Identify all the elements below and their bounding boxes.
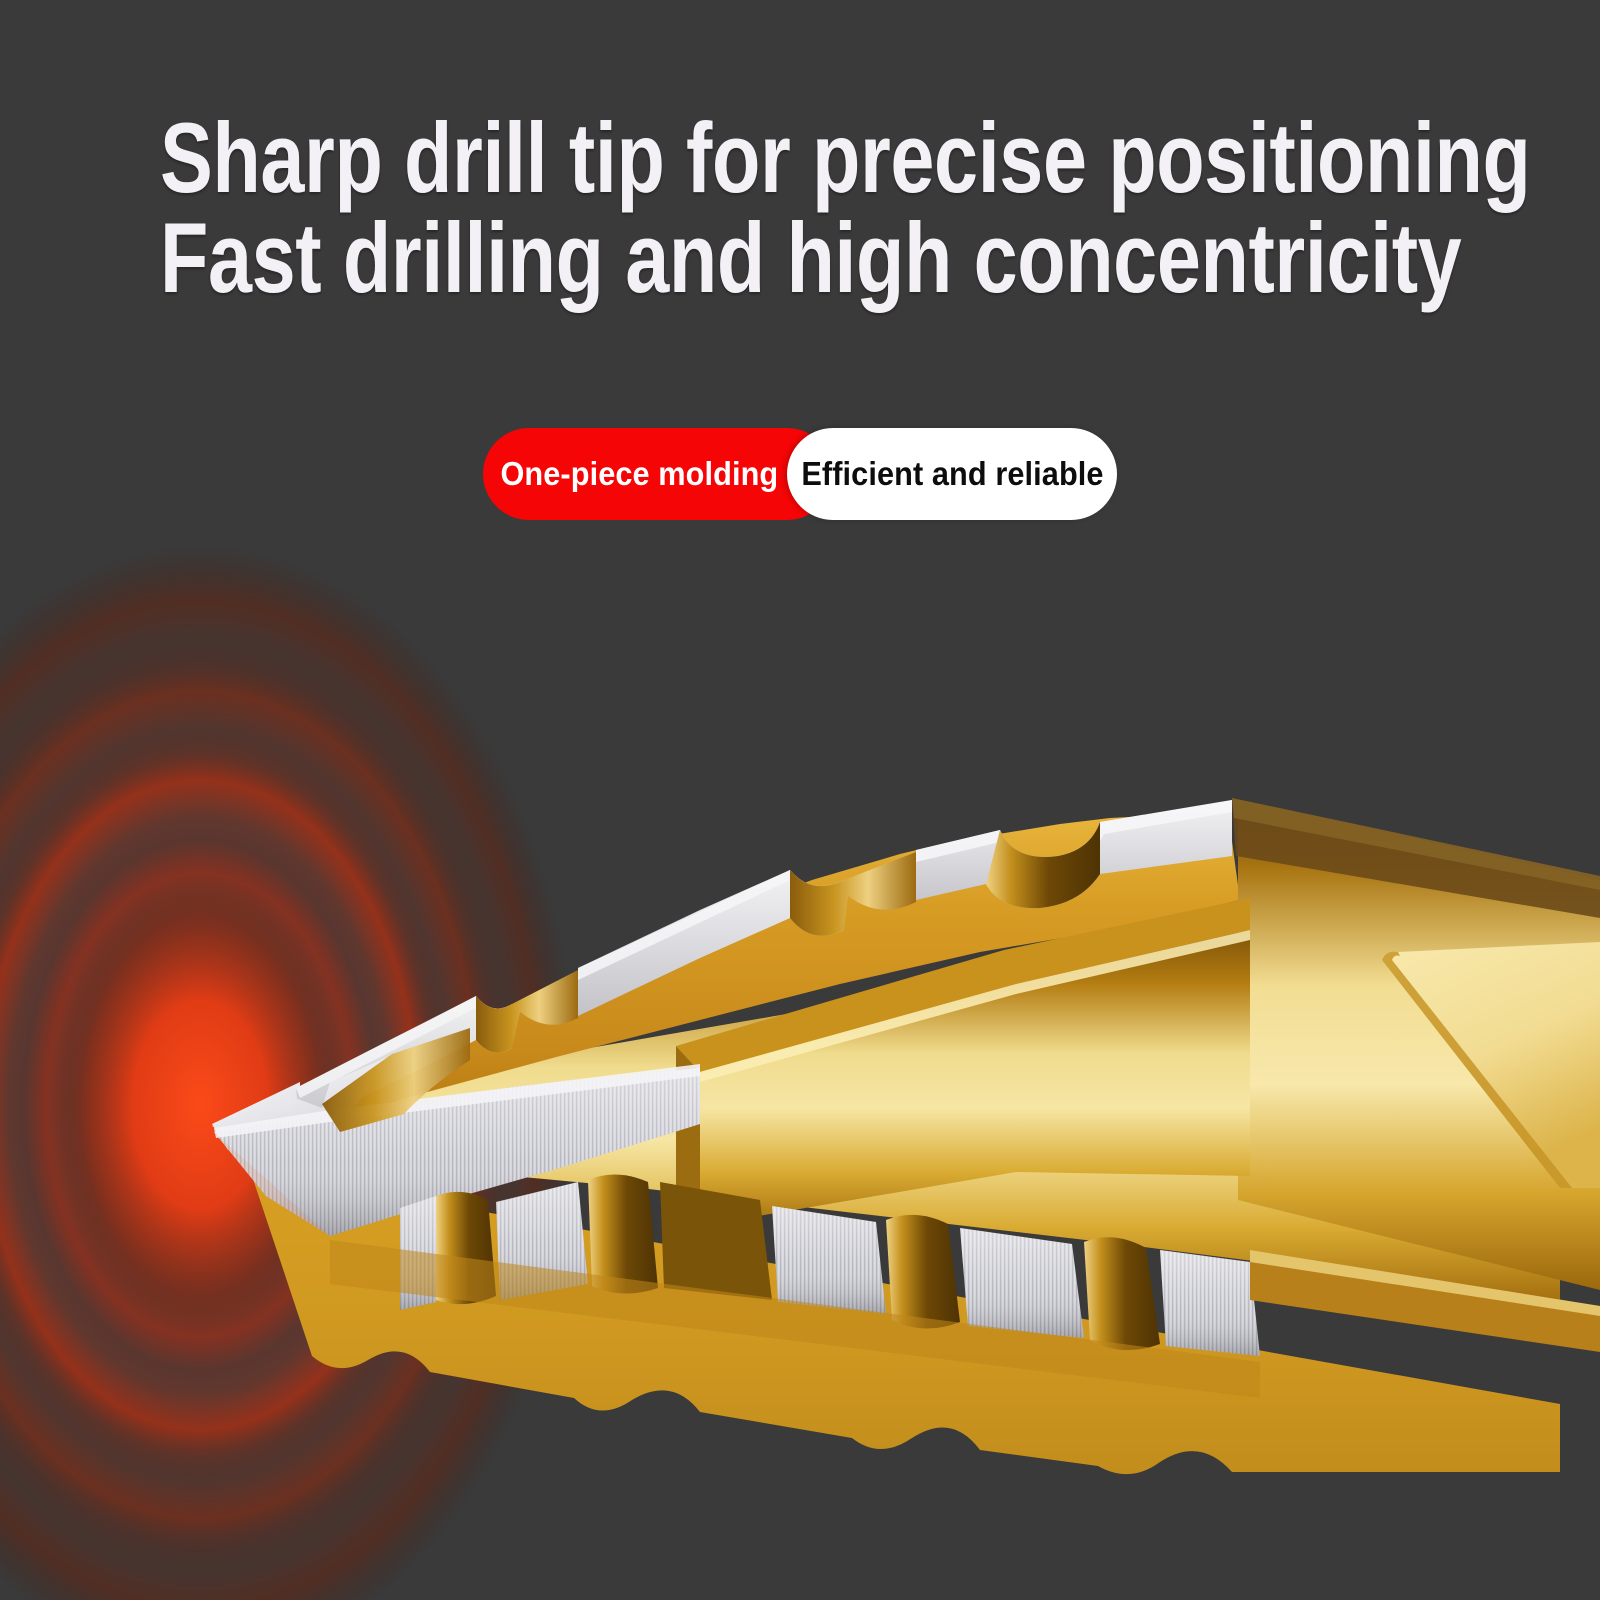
promo-canvas: Sharp drill tip for precise positioning … — [0, 0, 1600, 1600]
headline-line-1: Sharp drill tip for precise positioning — [160, 108, 1440, 208]
feature-badge-group: One-piece molding Efficient and reliable — [0, 428, 1600, 524]
badge-one-piece-molding: One-piece molding — [483, 428, 833, 520]
badge-efficient-and-reliable-label: Efficient and reliable — [801, 455, 1103, 493]
headline-block: Sharp drill tip for precise positioning … — [0, 108, 1600, 308]
step-drill-bit-illustration — [0, 0, 1600, 1600]
badge-one-piece-molding-label: One-piece molding — [500, 455, 778, 493]
headline-line-2: Fast drilling and high concentricity — [160, 208, 1440, 308]
heat-glow-rings — [0, 505, 600, 1600]
badge-efficient-and-reliable: Efficient and reliable — [787, 428, 1117, 520]
